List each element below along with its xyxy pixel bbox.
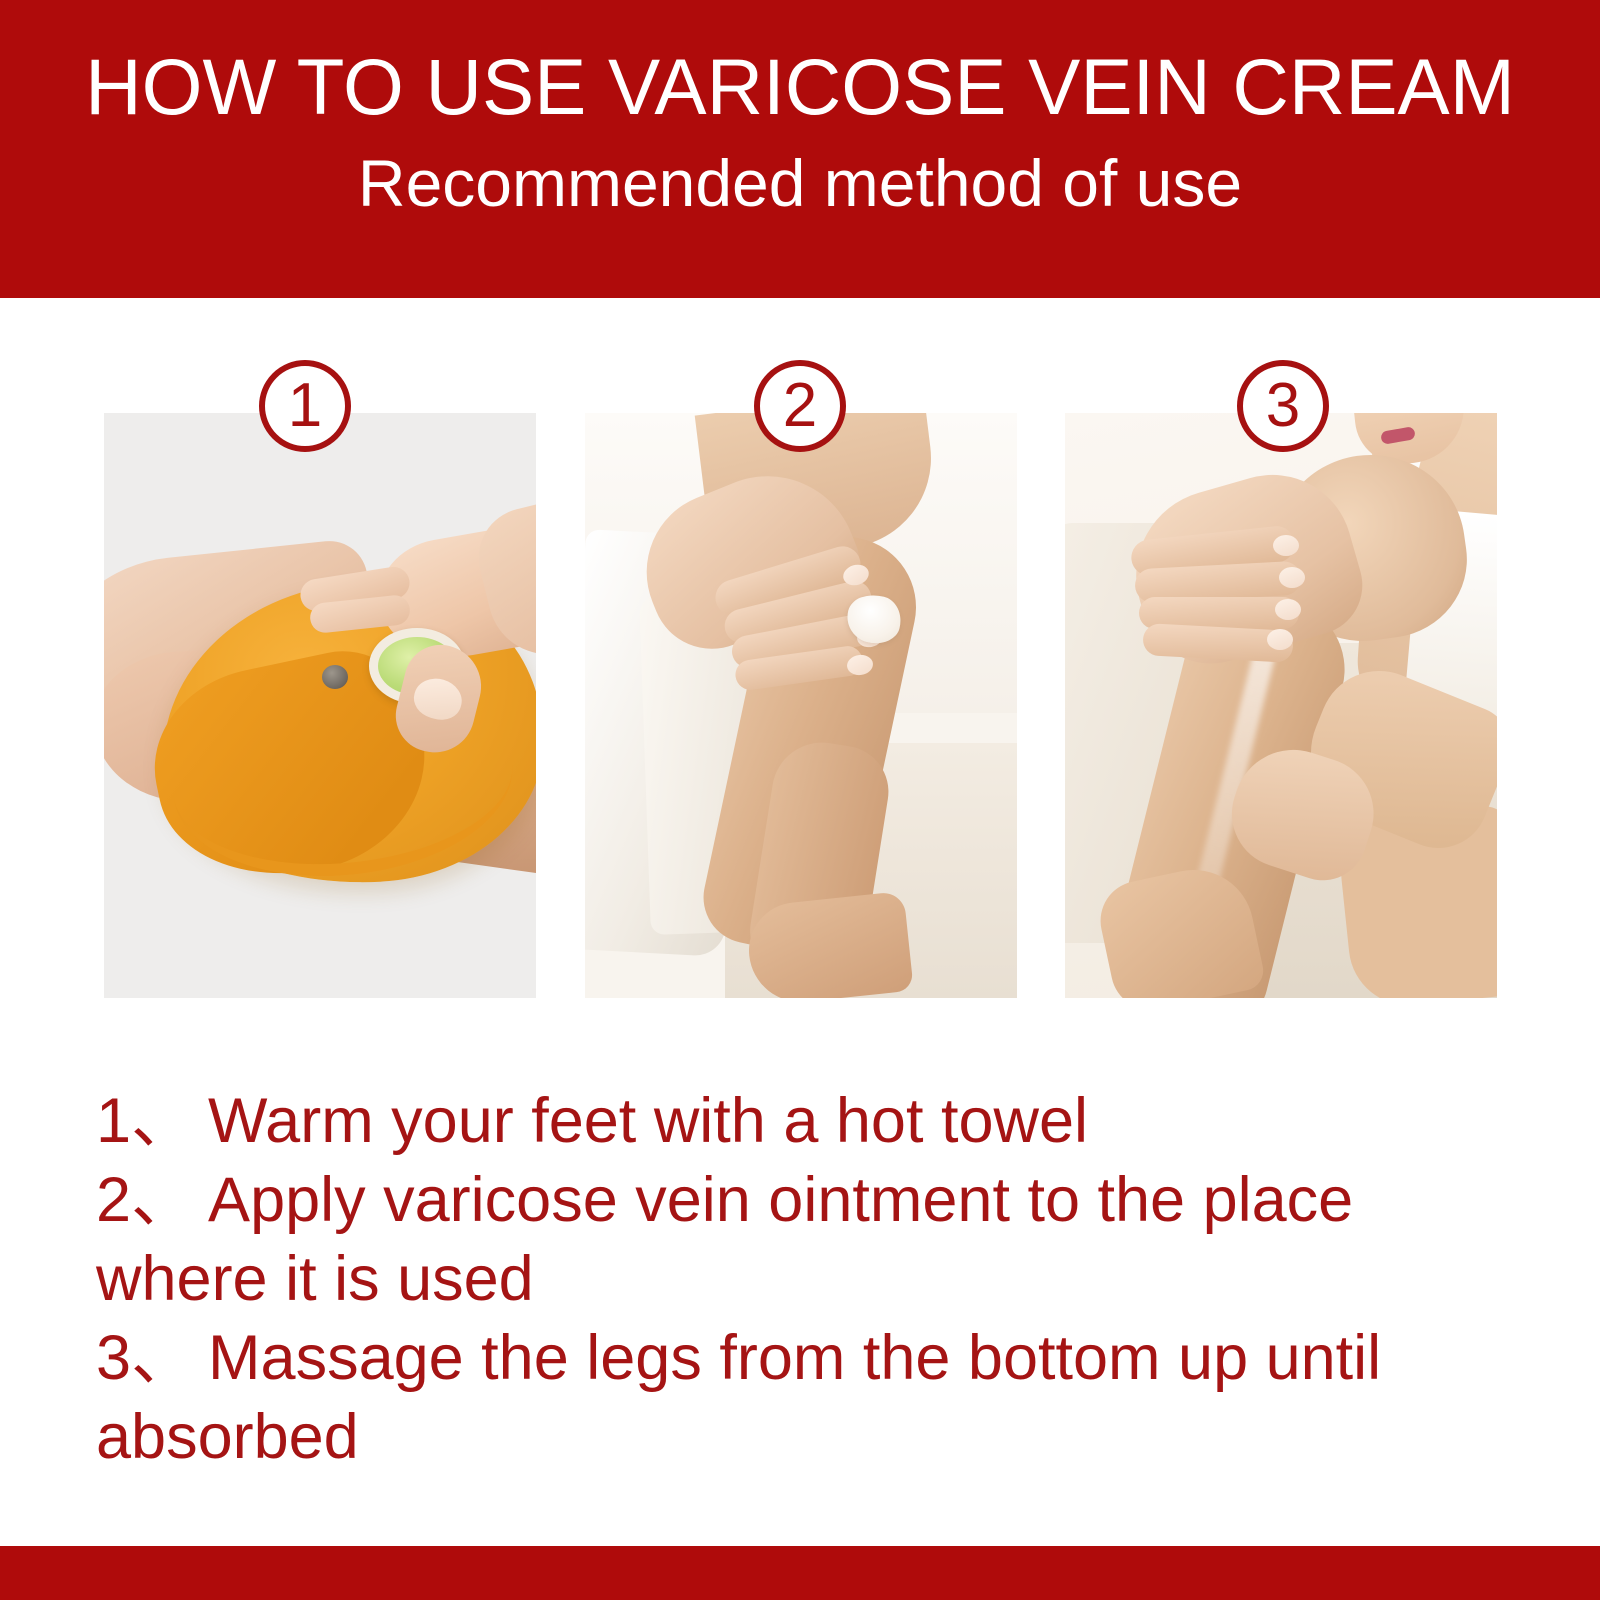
instruction-number-1: 1、 — [96, 1086, 194, 1156]
step-image-2 — [585, 413, 1017, 998]
step-badge-3: 3 — [1237, 360, 1329, 452]
step-badge-2: 2 — [754, 360, 846, 452]
fingernail — [1279, 567, 1305, 588]
fingernail — [1275, 599, 1301, 620]
instruction-number-2: 2、 — [96, 1165, 194, 1235]
instruction-text-1: Warm your feet with a hot towel — [208, 1086, 1088, 1156]
instruction-text-3: Massage the legs from the bottom up unti… — [96, 1323, 1381, 1472]
instruction-number-3: 3、 — [96, 1323, 194, 1393]
step-badge-1: 1 — [259, 360, 351, 452]
step-image-1 — [104, 413, 536, 998]
instruction-item-2: 2、Apply varicose vein ointment to the pl… — [96, 1161, 1516, 1319]
fingernail — [1273, 535, 1299, 556]
pad-indicator-button — [322, 665, 348, 689]
step-image-3 — [1065, 413, 1497, 998]
infographic-page: HOW TO USE VARICOSE VEIN CREAM Recommend… — [0, 0, 1600, 1600]
instruction-text-2: Apply varicose vein ointment to the plac… — [96, 1165, 1353, 1314]
fingernail — [1267, 629, 1293, 650]
footer-bar — [0, 1546, 1600, 1600]
instruction-item-3: 3、Massage the legs from the bottom up un… — [96, 1319, 1516, 1477]
step-image-gallery: 1 2 3 — [0, 0, 1600, 1000]
instruction-item-1: 1、Warm your feet with a hot towel — [96, 1082, 1516, 1161]
instruction-list: 1、Warm your feet with a hot towel 2、Appl… — [96, 1082, 1516, 1477]
